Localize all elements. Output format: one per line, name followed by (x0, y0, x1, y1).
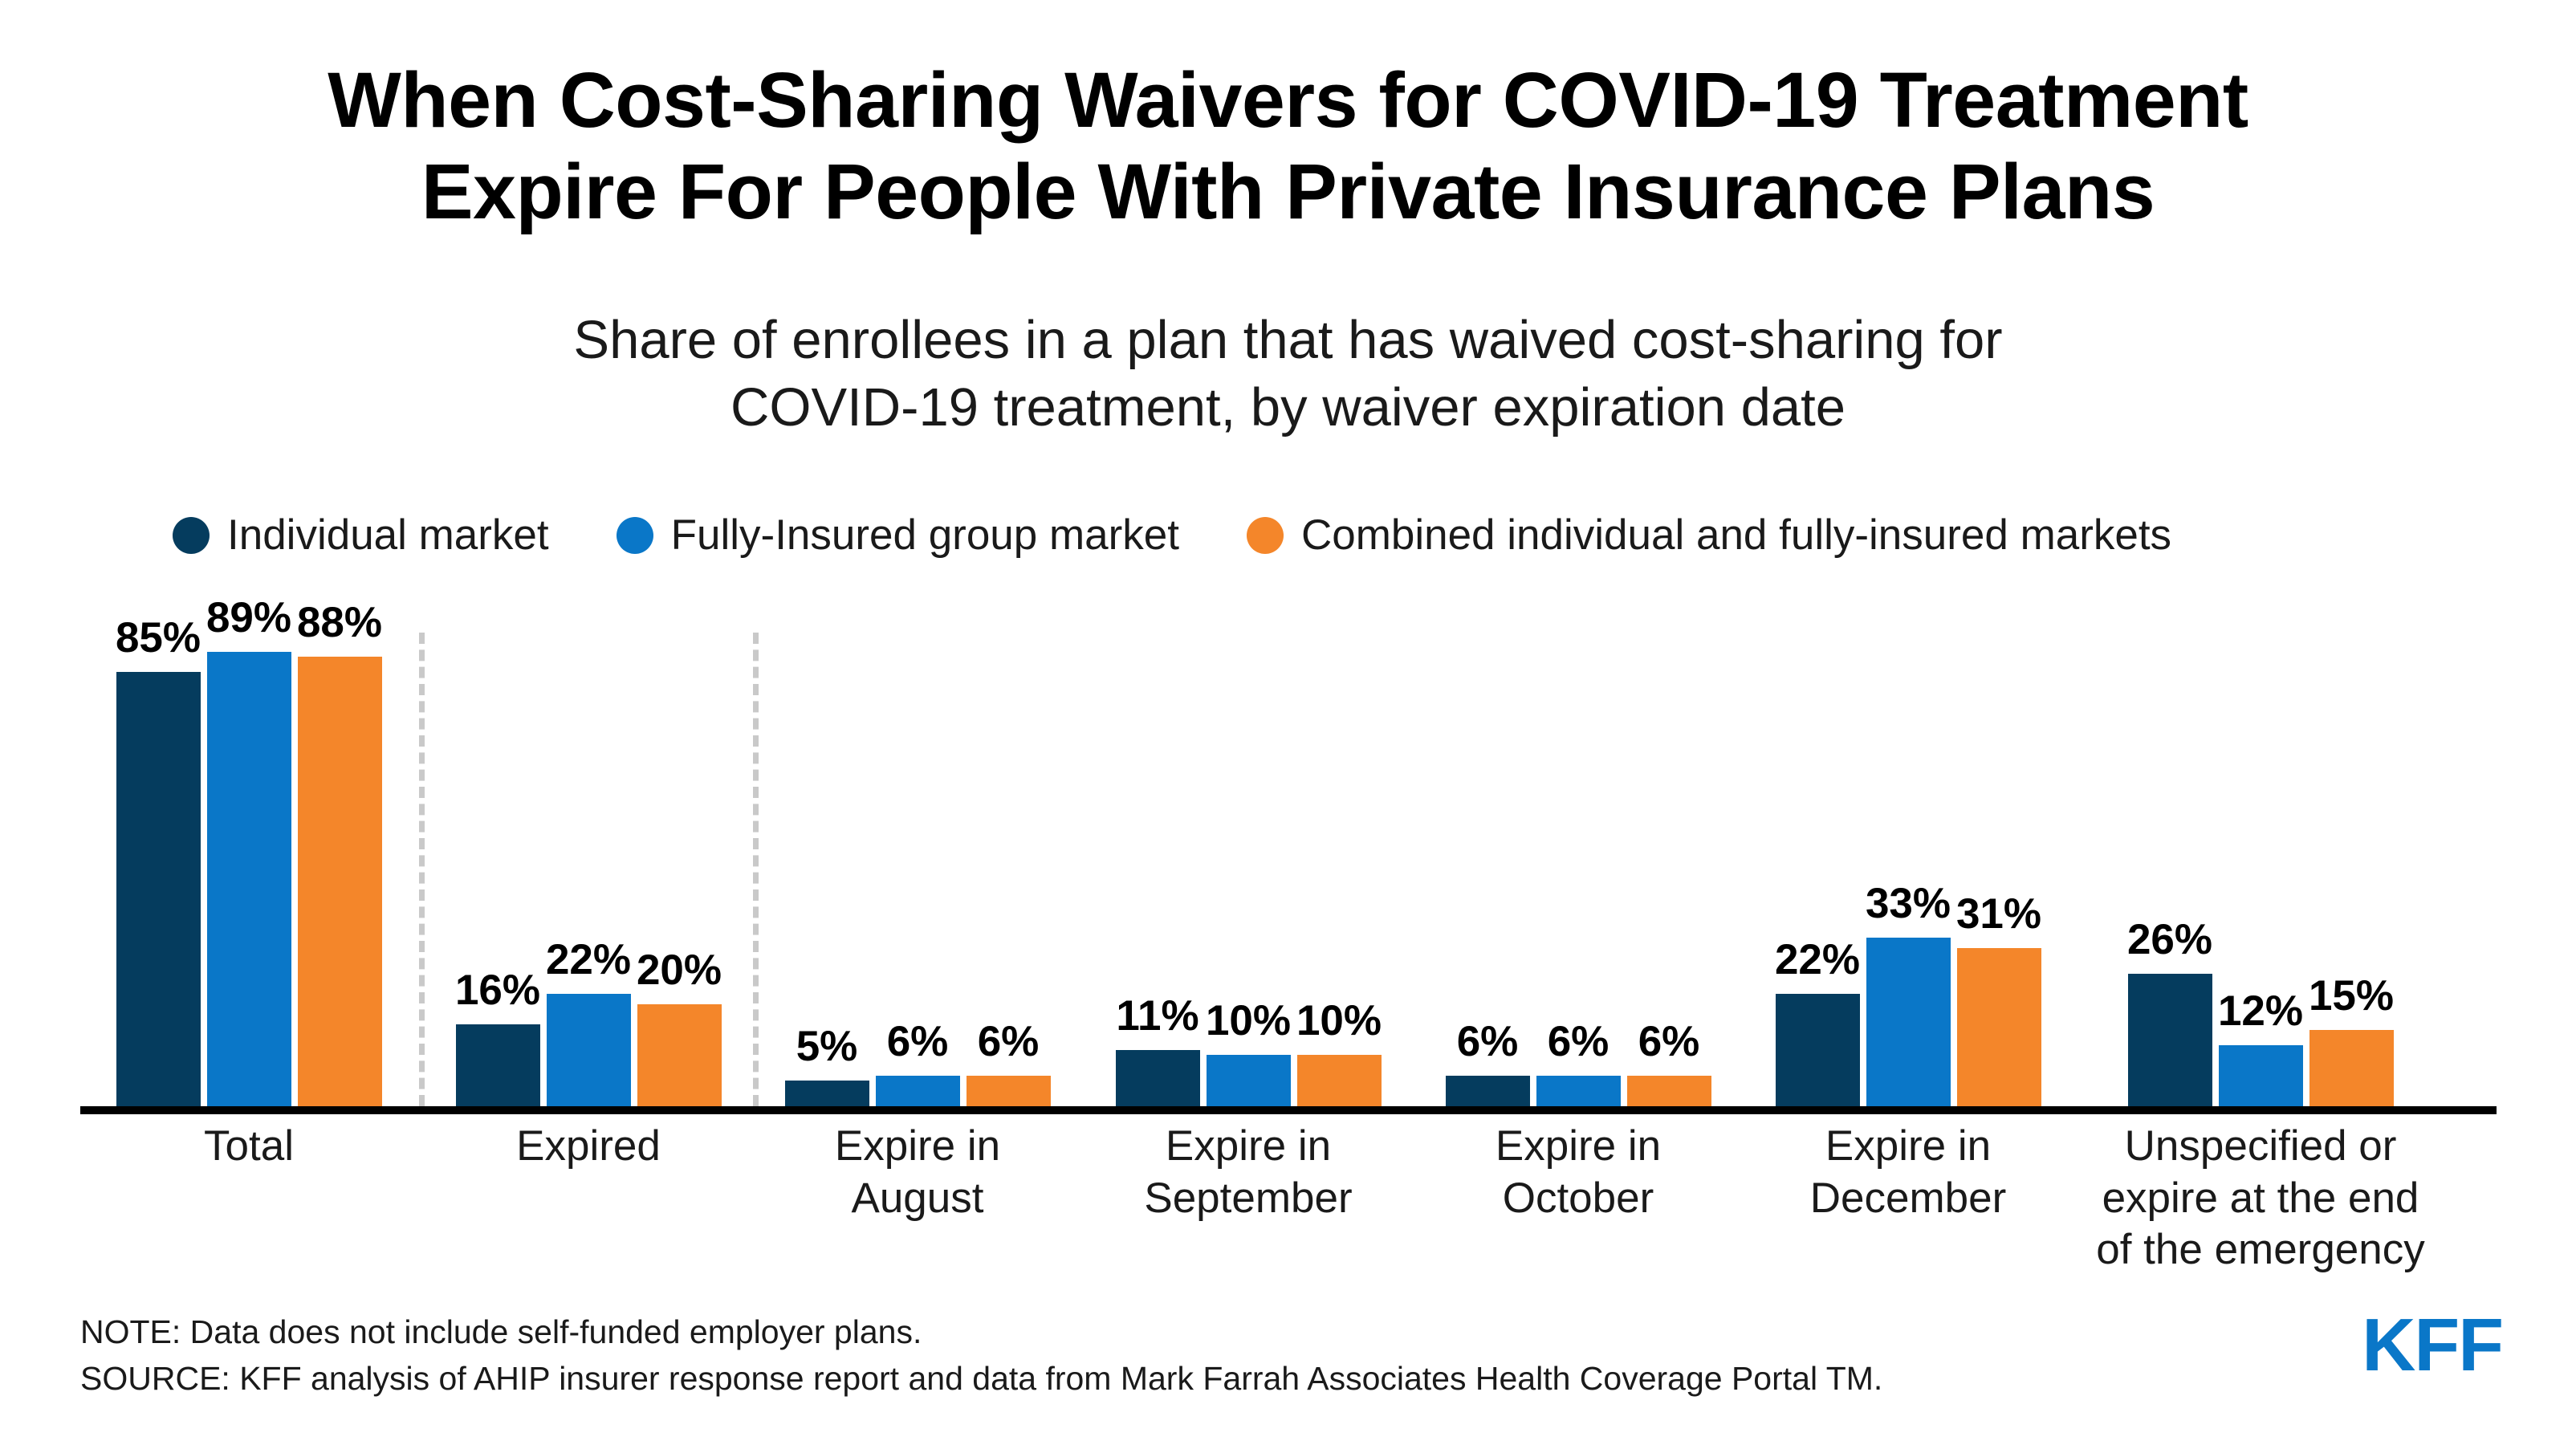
plot-area: 85%89%88%16%22%20%5%6%6%11%10%10%6%6%6%2… (80, 594, 2497, 1114)
bar-column[interactable]: 10% (1297, 625, 1382, 1106)
chart-legend: Individual marketFully-Insured group mar… (173, 511, 2239, 560)
bar[interactable] (2309, 1030, 2394, 1106)
bar-value-label: 6% (1548, 1017, 1609, 1066)
bar-group: 22%33%31% (1776, 625, 2041, 1106)
category-label-line: Expire in (749, 1121, 1086, 1173)
bar-value-label: 10% (1296, 996, 1382, 1045)
category-label-line: Expire in (1410, 1121, 1747, 1173)
bar-value-label: 5% (796, 1022, 858, 1071)
legend-label: Combined individual and fully-insured ma… (1301, 511, 2171, 560)
chart-subtitle: Share of enrollees in a plan that has wa… (0, 307, 2576, 442)
bar-group: 11%10%10% (1116, 625, 1382, 1106)
page-title: When Cost-Sharing Waivers for COVID-19 T… (0, 55, 2576, 238)
bar-column[interactable]: 26% (2128, 625, 2212, 1106)
bar-value-label: 6% (887, 1017, 949, 1066)
bar-value-label: 22% (546, 935, 631, 984)
bar-group: 26%12%15% (2128, 625, 2394, 1106)
bar-value-label: 89% (206, 593, 291, 642)
bar[interactable] (1536, 1076, 1621, 1106)
category-label-line: Expired (420, 1121, 757, 1173)
bar-value-label: 33% (1866, 879, 1951, 928)
legend-item: Individual market (173, 511, 549, 560)
bar-column[interactable]: 89% (207, 625, 291, 1106)
bar-column[interactable]: 33% (1866, 625, 1951, 1106)
legend-swatch-icon (173, 517, 210, 554)
bar-column[interactable]: 6% (1536, 625, 1621, 1106)
bar-group: 5%6%6% (785, 625, 1051, 1106)
note-line: NOTE: Data does not include self-funded … (80, 1309, 2296, 1355)
bar-column[interactable]: 6% (1446, 625, 1530, 1106)
category-label: Expire inDecember (1740, 1121, 2077, 1224)
bar-value-label: 6% (1638, 1017, 1700, 1066)
legend-label: Fully-Insured group market (671, 511, 1179, 560)
bar[interactable] (876, 1076, 960, 1106)
bar-value-label: 6% (1457, 1017, 1519, 1066)
legend-item: Combined individual and fully-insured ma… (1247, 511, 2171, 560)
bar[interactable] (207, 652, 291, 1106)
bar-value-label: 31% (1956, 889, 2041, 938)
category-label-line: Expire in (1740, 1121, 2077, 1173)
bar-column[interactable]: 31% (1957, 625, 2041, 1106)
bar-column[interactable]: 6% (967, 625, 1051, 1106)
bar-value-label: 6% (978, 1017, 1040, 1066)
bar[interactable] (547, 994, 631, 1106)
bar[interactable] (785, 1081, 869, 1106)
bar-column[interactable]: 6% (1627, 625, 1711, 1106)
bar[interactable] (967, 1076, 1051, 1106)
bar-value-label: 22% (1775, 935, 1860, 984)
bar-column[interactable]: 16% (456, 625, 540, 1106)
bar[interactable] (298, 657, 382, 1106)
legend-label: Individual market (227, 511, 549, 560)
bar[interactable] (1297, 1055, 1382, 1106)
source-line: SOURCE: KFF analysis of AHIP insurer res… (80, 1355, 2296, 1402)
bar-group: 16%22%20% (456, 625, 722, 1106)
bar-column[interactable]: 6% (876, 625, 960, 1106)
footer-notes: NOTE: Data does not include self-funded … (80, 1309, 2296, 1402)
bar[interactable] (456, 1024, 540, 1106)
bar[interactable] (1116, 1050, 1200, 1106)
category-label-line: December (1740, 1173, 2077, 1225)
category-label-line: Total (80, 1121, 417, 1173)
bar[interactable] (116, 672, 201, 1106)
kff-logo: KFF (2362, 1302, 2502, 1388)
group-separator (753, 633, 764, 1106)
category-label: Unspecified orexpire at the endof the em… (2092, 1121, 2429, 1276)
bar[interactable] (2219, 1045, 2303, 1106)
bar-column[interactable]: 5% (785, 625, 869, 1106)
category-label-line: October (1410, 1173, 1747, 1225)
bar-column[interactable]: 22% (1776, 625, 1860, 1106)
bar-value-label: 10% (1206, 996, 1291, 1045)
legend-swatch-icon (617, 517, 653, 554)
bar[interactable] (1627, 1076, 1711, 1106)
bar[interactable] (1866, 938, 1951, 1106)
subtitle-line-1: Share of enrollees in a plan that has wa… (0, 307, 2576, 374)
bar-value-label: 16% (455, 966, 540, 1015)
bar[interactable] (1957, 948, 2041, 1106)
bar[interactable] (1446, 1076, 1530, 1106)
category-label: Expired (420, 1121, 757, 1173)
bar-column[interactable]: 12% (2219, 625, 2303, 1106)
bar-column[interactable]: 22% (547, 625, 631, 1106)
legend-item: Fully-Insured group market (617, 511, 1179, 560)
category-label-line: August (749, 1173, 1086, 1225)
bar-column[interactable]: 15% (2309, 625, 2394, 1106)
chart-page: When Cost-Sharing Waivers for COVID-19 T… (0, 0, 2576, 1445)
x-axis-line (80, 1106, 2497, 1114)
bar-column[interactable]: 85% (116, 625, 201, 1106)
bar-value-label: 20% (637, 946, 722, 995)
bar-column[interactable]: 11% (1116, 625, 1200, 1106)
category-label-line: of the emergency (2092, 1224, 2429, 1276)
category-label: Expire inAugust (749, 1121, 1086, 1224)
bar[interactable] (2128, 974, 2212, 1106)
category-label-line: Expire in (1080, 1121, 1417, 1173)
bar[interactable] (1207, 1055, 1291, 1106)
subtitle-line-2: COVID-19 treatment, by waiver expiration… (0, 374, 2576, 442)
bar-column[interactable]: 20% (637, 625, 722, 1106)
title-line-1: When Cost-Sharing Waivers for COVID-19 T… (0, 55, 2576, 146)
category-label-line: September (1080, 1173, 1417, 1225)
bar-group: 6%6%6% (1446, 625, 1711, 1106)
bar-column[interactable]: 10% (1207, 625, 1291, 1106)
category-label: Expire inSeptember (1080, 1121, 1417, 1224)
x-axis-category-labels: TotalExpiredExpire inAugustExpire inSept… (80, 1121, 2497, 1281)
legend-swatch-icon (1247, 517, 1284, 554)
bar-value-label: 12% (2218, 987, 2303, 1036)
category-label-line: Unspecified or (2092, 1121, 2429, 1173)
bar-group: 85%89%88% (116, 625, 382, 1106)
bar-value-label: 85% (116, 613, 201, 662)
title-line-2: Expire For People With Private Insurance… (0, 146, 2576, 238)
bar-column[interactable]: 88% (298, 625, 382, 1106)
bar-value-label: 88% (297, 598, 382, 647)
category-label: Expire inOctober (1410, 1121, 1747, 1224)
group-separator (419, 633, 430, 1106)
bar-value-label: 15% (2309, 971, 2394, 1020)
category-label-line: expire at the end (2092, 1173, 2429, 1225)
bar-value-label: 26% (2127, 915, 2212, 964)
bar[interactable] (637, 1004, 722, 1106)
bar-value-label: 11% (1116, 991, 1198, 1040)
category-label: Total (80, 1121, 417, 1173)
bar[interactable] (1776, 994, 1860, 1106)
